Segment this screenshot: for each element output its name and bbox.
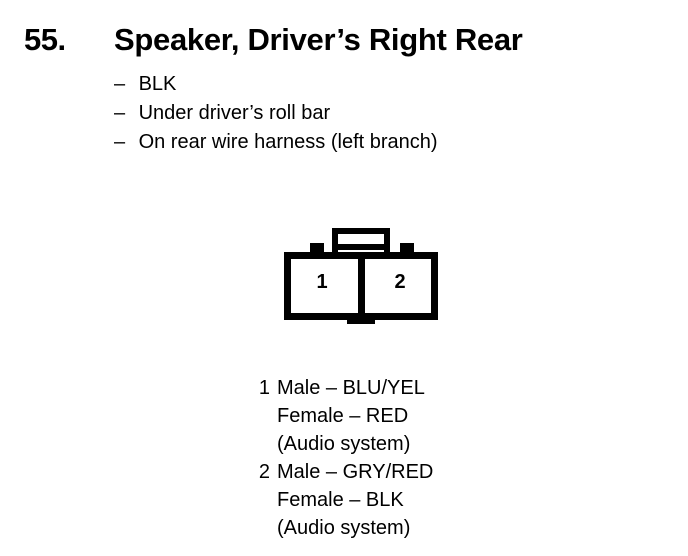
terminal-legend: 1 Male – BLU/YEL Female – RED (Audio sys… [248,374,648,542]
page-title: Speaker, Driver’s Right Rear [114,20,523,60]
terminal-legend-row: Female – BLK [248,486,648,514]
terminal-legend-row: 2 Male – GRY/RED [248,458,648,486]
connector-latch-bar-icon [332,244,390,250]
dash-bullet-icon: – [114,128,133,157]
terminal-legend-entry: 1 Male – BLU/YEL Female – RED (Audio sys… [248,374,648,458]
connector-cavity-label-2: 2 [370,272,430,292]
terminal-system-label: (Audio system) [277,517,410,539]
detail-list-item-label: BLK [139,73,177,95]
terminal-legend-row: (Audio system) [248,430,648,458]
detail-list-item-label: On rear wire harness (left branch) [139,131,438,153]
connector-cavity-divider [358,252,365,320]
dash-bullet-icon: – [114,70,133,99]
terminal-male-wire: Male – GRY/RED [277,461,433,483]
detail-list-item: – Under driver’s roll bar [114,99,634,128]
connector-diagram: 1 2 [284,228,438,320]
terminal-legend-row: 1 Male – BLU/YEL [248,374,648,402]
terminal-pin-number: 2 [248,458,270,486]
terminal-pin-number: 1 [248,374,270,402]
terminal-male-wire: Male – BLU/YEL [277,377,425,399]
item-number: 55. [24,20,66,60]
terminal-legend-row: (Audio system) [248,514,648,542]
connector-bottom-tab-icon [347,318,375,324]
detail-list-item: – On rear wire harness (left branch) [114,128,634,157]
terminal-female-wire: Female – BLK [277,489,404,511]
detail-list-item: – BLK [114,70,634,99]
detail-list-item-label: Under driver’s roll bar [139,102,331,124]
connector-cavity-label-1: 1 [292,272,352,292]
terminal-legend-row: Female – RED [248,402,648,430]
terminal-legend-entry: 2 Male – GRY/RED Female – BLK (Audio sys… [248,458,648,542]
detail-list: – BLK – Under driver’s roll bar – On rea… [114,70,634,157]
terminal-female-wire: Female – RED [277,405,408,427]
page-header: 55. Speaker, Driver’s Right Rear [0,20,688,64]
terminal-system-label: (Audio system) [277,433,410,455]
dash-bullet-icon: – [114,99,133,128]
